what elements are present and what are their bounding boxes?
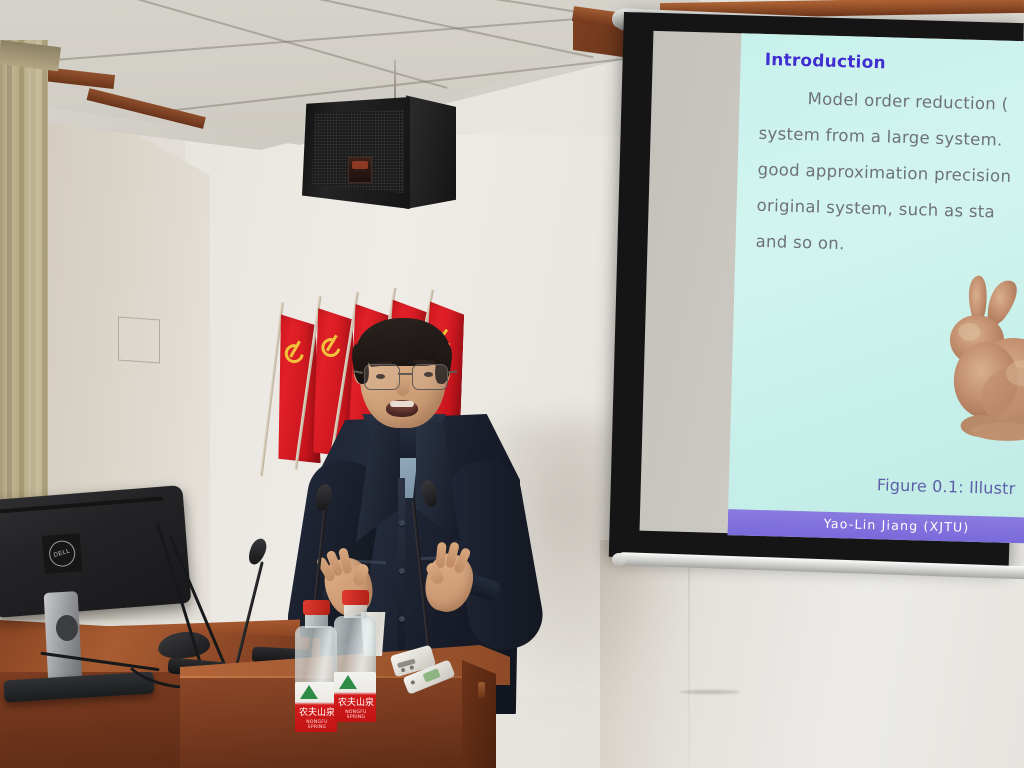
wall-seam (688, 540, 690, 768)
screen-surface: Introduction Model order reduction ( sys… (640, 31, 1024, 542)
slide-title: Introduction (764, 50, 886, 73)
slide-figure-caption: Figure 0.1: Illustr (877, 475, 1016, 498)
stanford-bunny-figure (922, 267, 1024, 461)
dell-monitor-rear: DELL (0, 485, 191, 618)
bottle-brand-en: NONGFU SPRING (336, 710, 376, 720)
projection-screen: Introduction Model order reduction ( sys… (609, 12, 1024, 568)
eyeglass-lens-left (364, 364, 400, 390)
mountain-logo-icon (339, 675, 357, 689)
wall-scuff-mark (680, 690, 740, 694)
water-bottle: 农夫山泉 NONGFU SPRING (332, 590, 378, 722)
eyeglass-temple (447, 370, 457, 373)
slide-footer-bar: Yao-Lin Jiang (XJTU) (727, 509, 1024, 544)
bottle-label: 农夫山泉 NONGFU SPRING (295, 682, 337, 732)
window-curtain (0, 40, 48, 560)
lecture-hall-photo: Introduction Model order reduction ( sys… (0, 0, 1024, 768)
jacket-button (399, 568, 405, 574)
slide-footer-text: Yao-Lin Jiang (XJTU) (824, 516, 970, 535)
wall-access-panel (118, 317, 160, 364)
bottle-neck (305, 614, 328, 628)
eyeglass-lens-right (412, 364, 448, 390)
presenter-teeth (390, 401, 414, 407)
bottle-neck (344, 604, 367, 618)
remote-button[interactable] (409, 665, 414, 670)
presenter-mouth (386, 400, 418, 417)
bottle-label: 农夫山泉 NONGFU SPRING (334, 672, 376, 722)
podium-latch[interactable] (478, 682, 485, 698)
dell-logo-text: DELL (46, 537, 78, 569)
eyeglass-bridge (398, 373, 412, 375)
podium-side-panel (462, 660, 496, 768)
bottle-brand-en: NONGFU SPRING (297, 720, 337, 730)
dell-logo: DELL (42, 533, 83, 574)
projected-slide: Introduction Model order reduction ( sys… (727, 33, 1024, 544)
remote-button[interactable] (410, 680, 415, 685)
presenter-nose (396, 378, 410, 396)
bottle-brand-cn: 农夫山泉 (336, 698, 376, 708)
slide-body-text: Model order reduction ( system from a la… (755, 80, 1024, 271)
slide-body-line: and so on. (755, 224, 1024, 271)
jacket-button (399, 616, 405, 622)
wall-speaker (302, 97, 454, 209)
bottle-cap (303, 600, 330, 615)
stanford-bunny-icon (922, 267, 1024, 461)
remote-indicator (422, 668, 440, 682)
monitor-vent-slot (0, 497, 163, 514)
jacket-button (399, 520, 405, 526)
speaker-suspension-wire (394, 60, 396, 100)
mountain-logo-icon (300, 685, 318, 699)
remote-button[interactable] (401, 668, 406, 673)
bottle-cap (342, 590, 369, 605)
speaker-brand-badge (348, 157, 372, 183)
bottle-brand-cn: 农夫山泉 (297, 708, 337, 718)
speaker-side-panel (406, 93, 456, 209)
